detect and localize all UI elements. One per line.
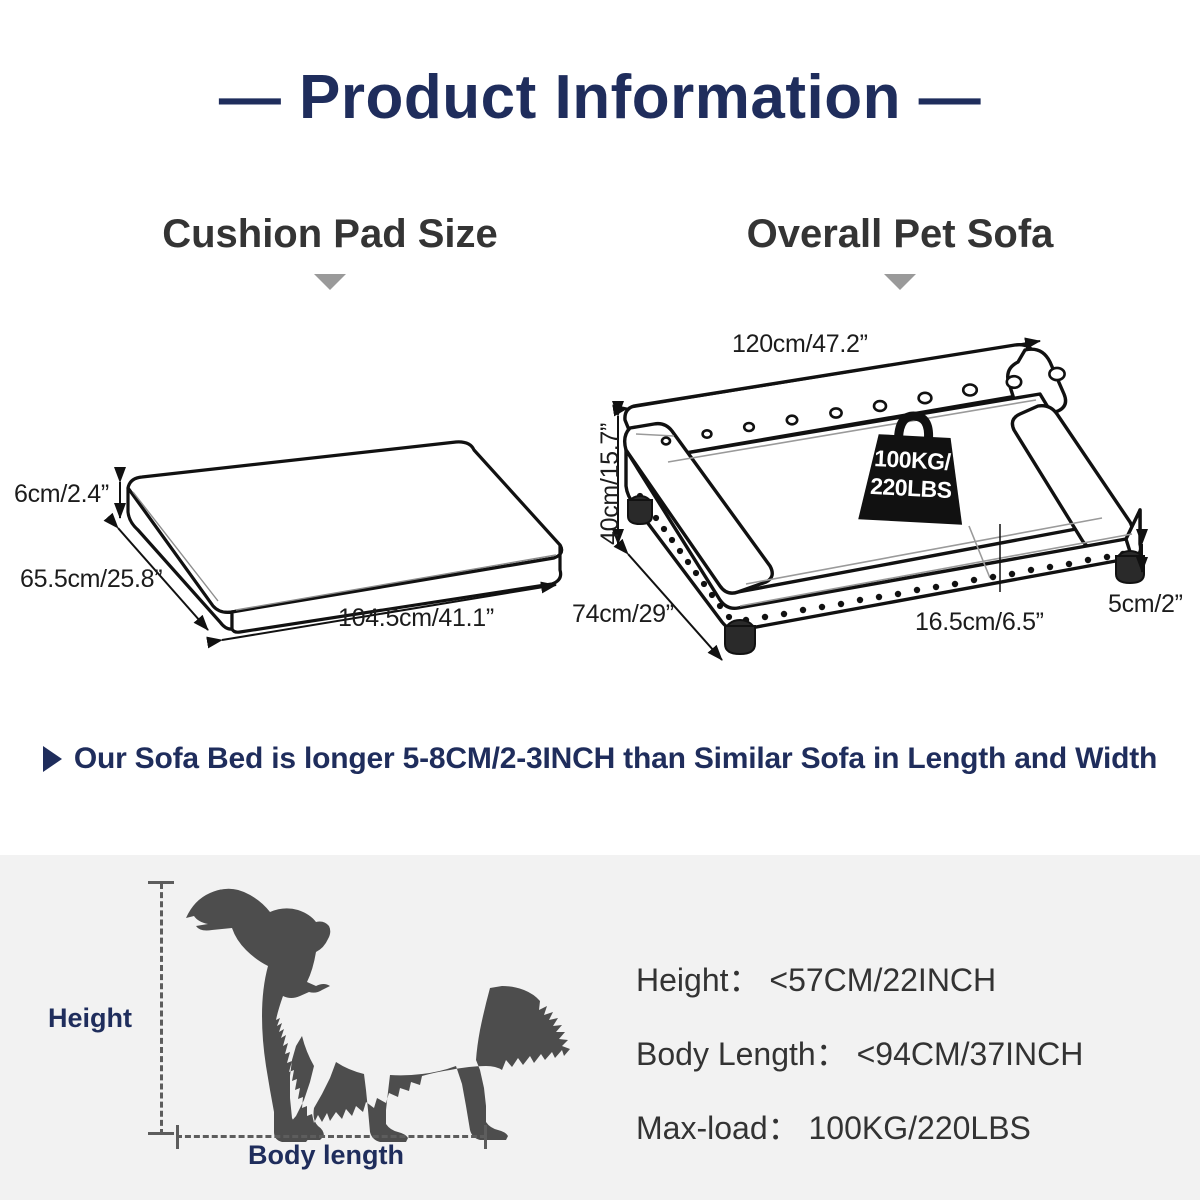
top-section: — Product Information — Cushion Pad Size… [0,0,1200,855]
cushion-width-label: 65.5cm/25.8” [20,565,162,594]
sofa-leg-height-label: 5cm/2” [1108,590,1183,619]
height-measure-cap-top [148,881,174,884]
height-axis-label: Height [48,1003,132,1034]
weight-bag-icon [850,397,975,538]
cushion-heading: Cushion Pad Size [70,212,590,257]
sofa-base-height-label: 16.5cm/6.5” [915,608,1044,637]
length-measure-line [176,1135,486,1138]
height-measure-line [160,883,163,1135]
highlight-banner: Our Sofa Bed is longer 5-8CM/2-3INCH tha… [0,742,1200,776]
length-axis-label: Body length [248,1140,404,1171]
max-load-badge: 100KG/ 220LBS [850,397,975,538]
cushion-length-label: 104.5cm/41.1” [338,604,494,633]
page-title: — Product Information — [0,62,1200,133]
triangle-down-icon [884,274,916,290]
height-measure-cap-bottom [148,1132,174,1135]
dog-spec-list: Height： <57CM/22INCH Body Length： <94CM/… [636,955,1083,1149]
sofa-heading: Overall Pet Sofa [640,212,1160,257]
sofa-length-label: 120cm/47.2” [732,330,868,359]
spec-body-length: Body Length： <94CM/37INCH [636,1029,1083,1075]
highlight-banner-text: Our Sofa Bed is longer 5-8CM/2-3INCH tha… [74,742,1157,776]
sofa-depth-label: 74cm/29” [572,600,674,629]
product-information-infographic: — Product Information — Cushion Pad Size… [0,0,1200,1200]
dog-silhouette-icon [150,860,570,1150]
cushion-pad-drawing [0,400,600,670]
spec-height: Height： <57CM/22INCH [636,955,1083,1001]
length-measure-cap-right [484,1125,487,1149]
cushion-thickness-label: 6cm/2.4” [14,480,109,509]
spec-max-load: Max-load： 100KG/220LBS [636,1103,1083,1149]
triangle-right-icon [43,746,62,772]
triangle-down-icon [314,274,346,290]
length-measure-cap-left [176,1125,179,1149]
sofa-height-label: 40cm/15.7” [596,423,625,545]
